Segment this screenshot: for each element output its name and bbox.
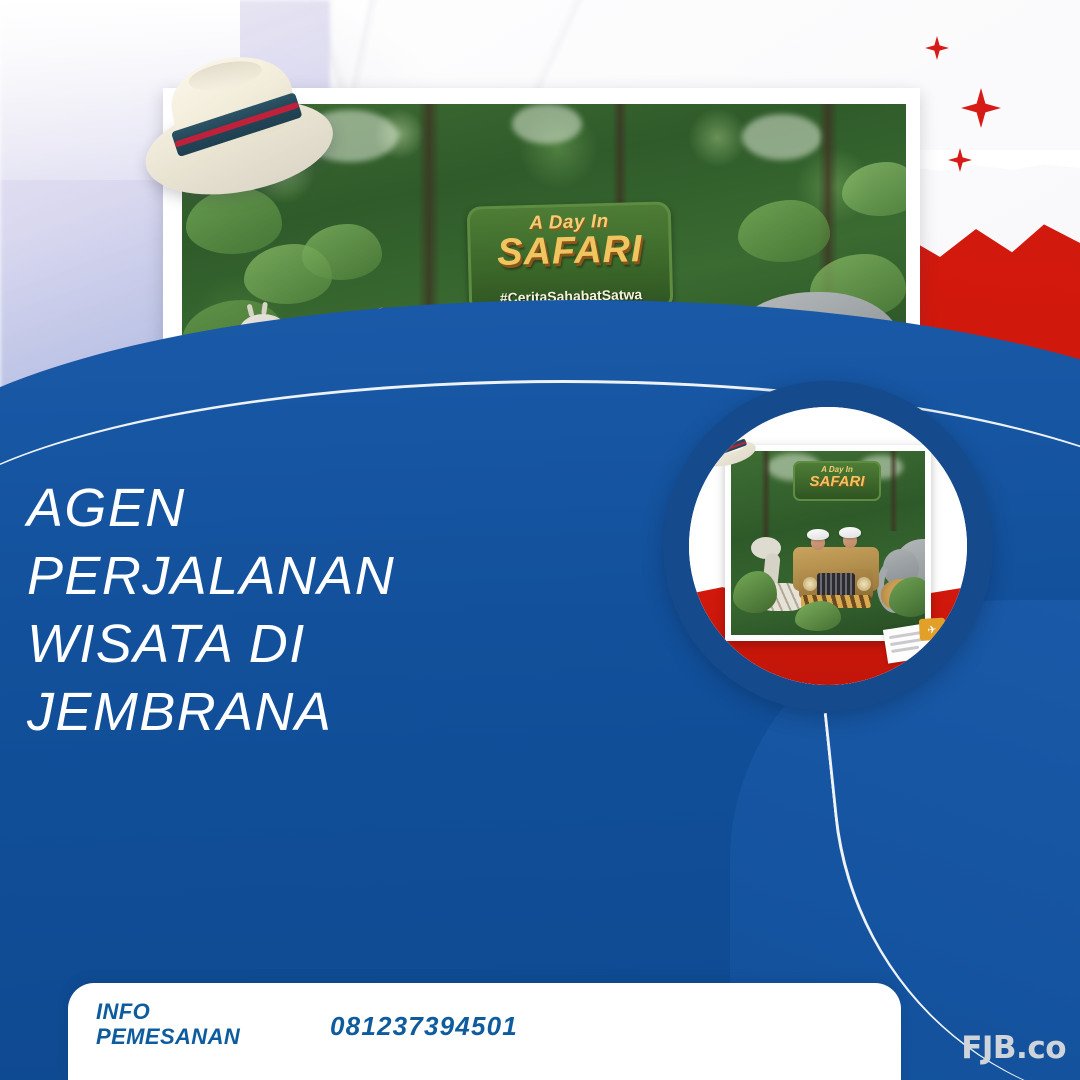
safari-park-sign: A Day In SAFARI #CeritaSahabatSatwa — [467, 201, 674, 314]
headline-line-2: PERJALANAN — [27, 542, 647, 610]
info-bar: INFO PEMESANAN 081237394501 — [68, 983, 901, 1080]
inset-sign-line2: SAFARI — [795, 473, 879, 490]
headline-line-4: JEMBRANA — [27, 678, 647, 746]
brand-logo: FJB.co — [961, 1030, 1066, 1066]
sign-line2-text: SAFARI — [467, 227, 672, 275]
info-label-line2: PEMESANAN — [96, 1025, 240, 1050]
airplane-icon: ✈ — [926, 623, 937, 637]
inset-safari-jeep — [787, 525, 885, 611]
inset-safari-sign: A Day In SAFARI — [793, 461, 881, 501]
canopy-light-gap — [742, 114, 822, 160]
info-label-line1: INFO — [96, 1000, 240, 1025]
contact-phone-number[interactable]: 081237394501 — [330, 1011, 518, 1042]
inset-framed-photo: A Day In SAFARI — [725, 445, 931, 641]
headline-line-1: AGEN — [27, 474, 647, 542]
circular-inset-photo: A Day In SAFARI — [663, 381, 993, 711]
page-title: AGEN PERJALANAN WISATA DI JEMBRANA — [27, 474, 647, 746]
poster-canvas: A Day In SAFARI #CeritaSahabatSatwa — [0, 0, 1080, 1080]
headline-line-3: WISATA DI — [27, 610, 647, 678]
canopy-light-gap — [512, 104, 582, 144]
info-label: INFO PEMESANAN — [96, 1000, 240, 1049]
